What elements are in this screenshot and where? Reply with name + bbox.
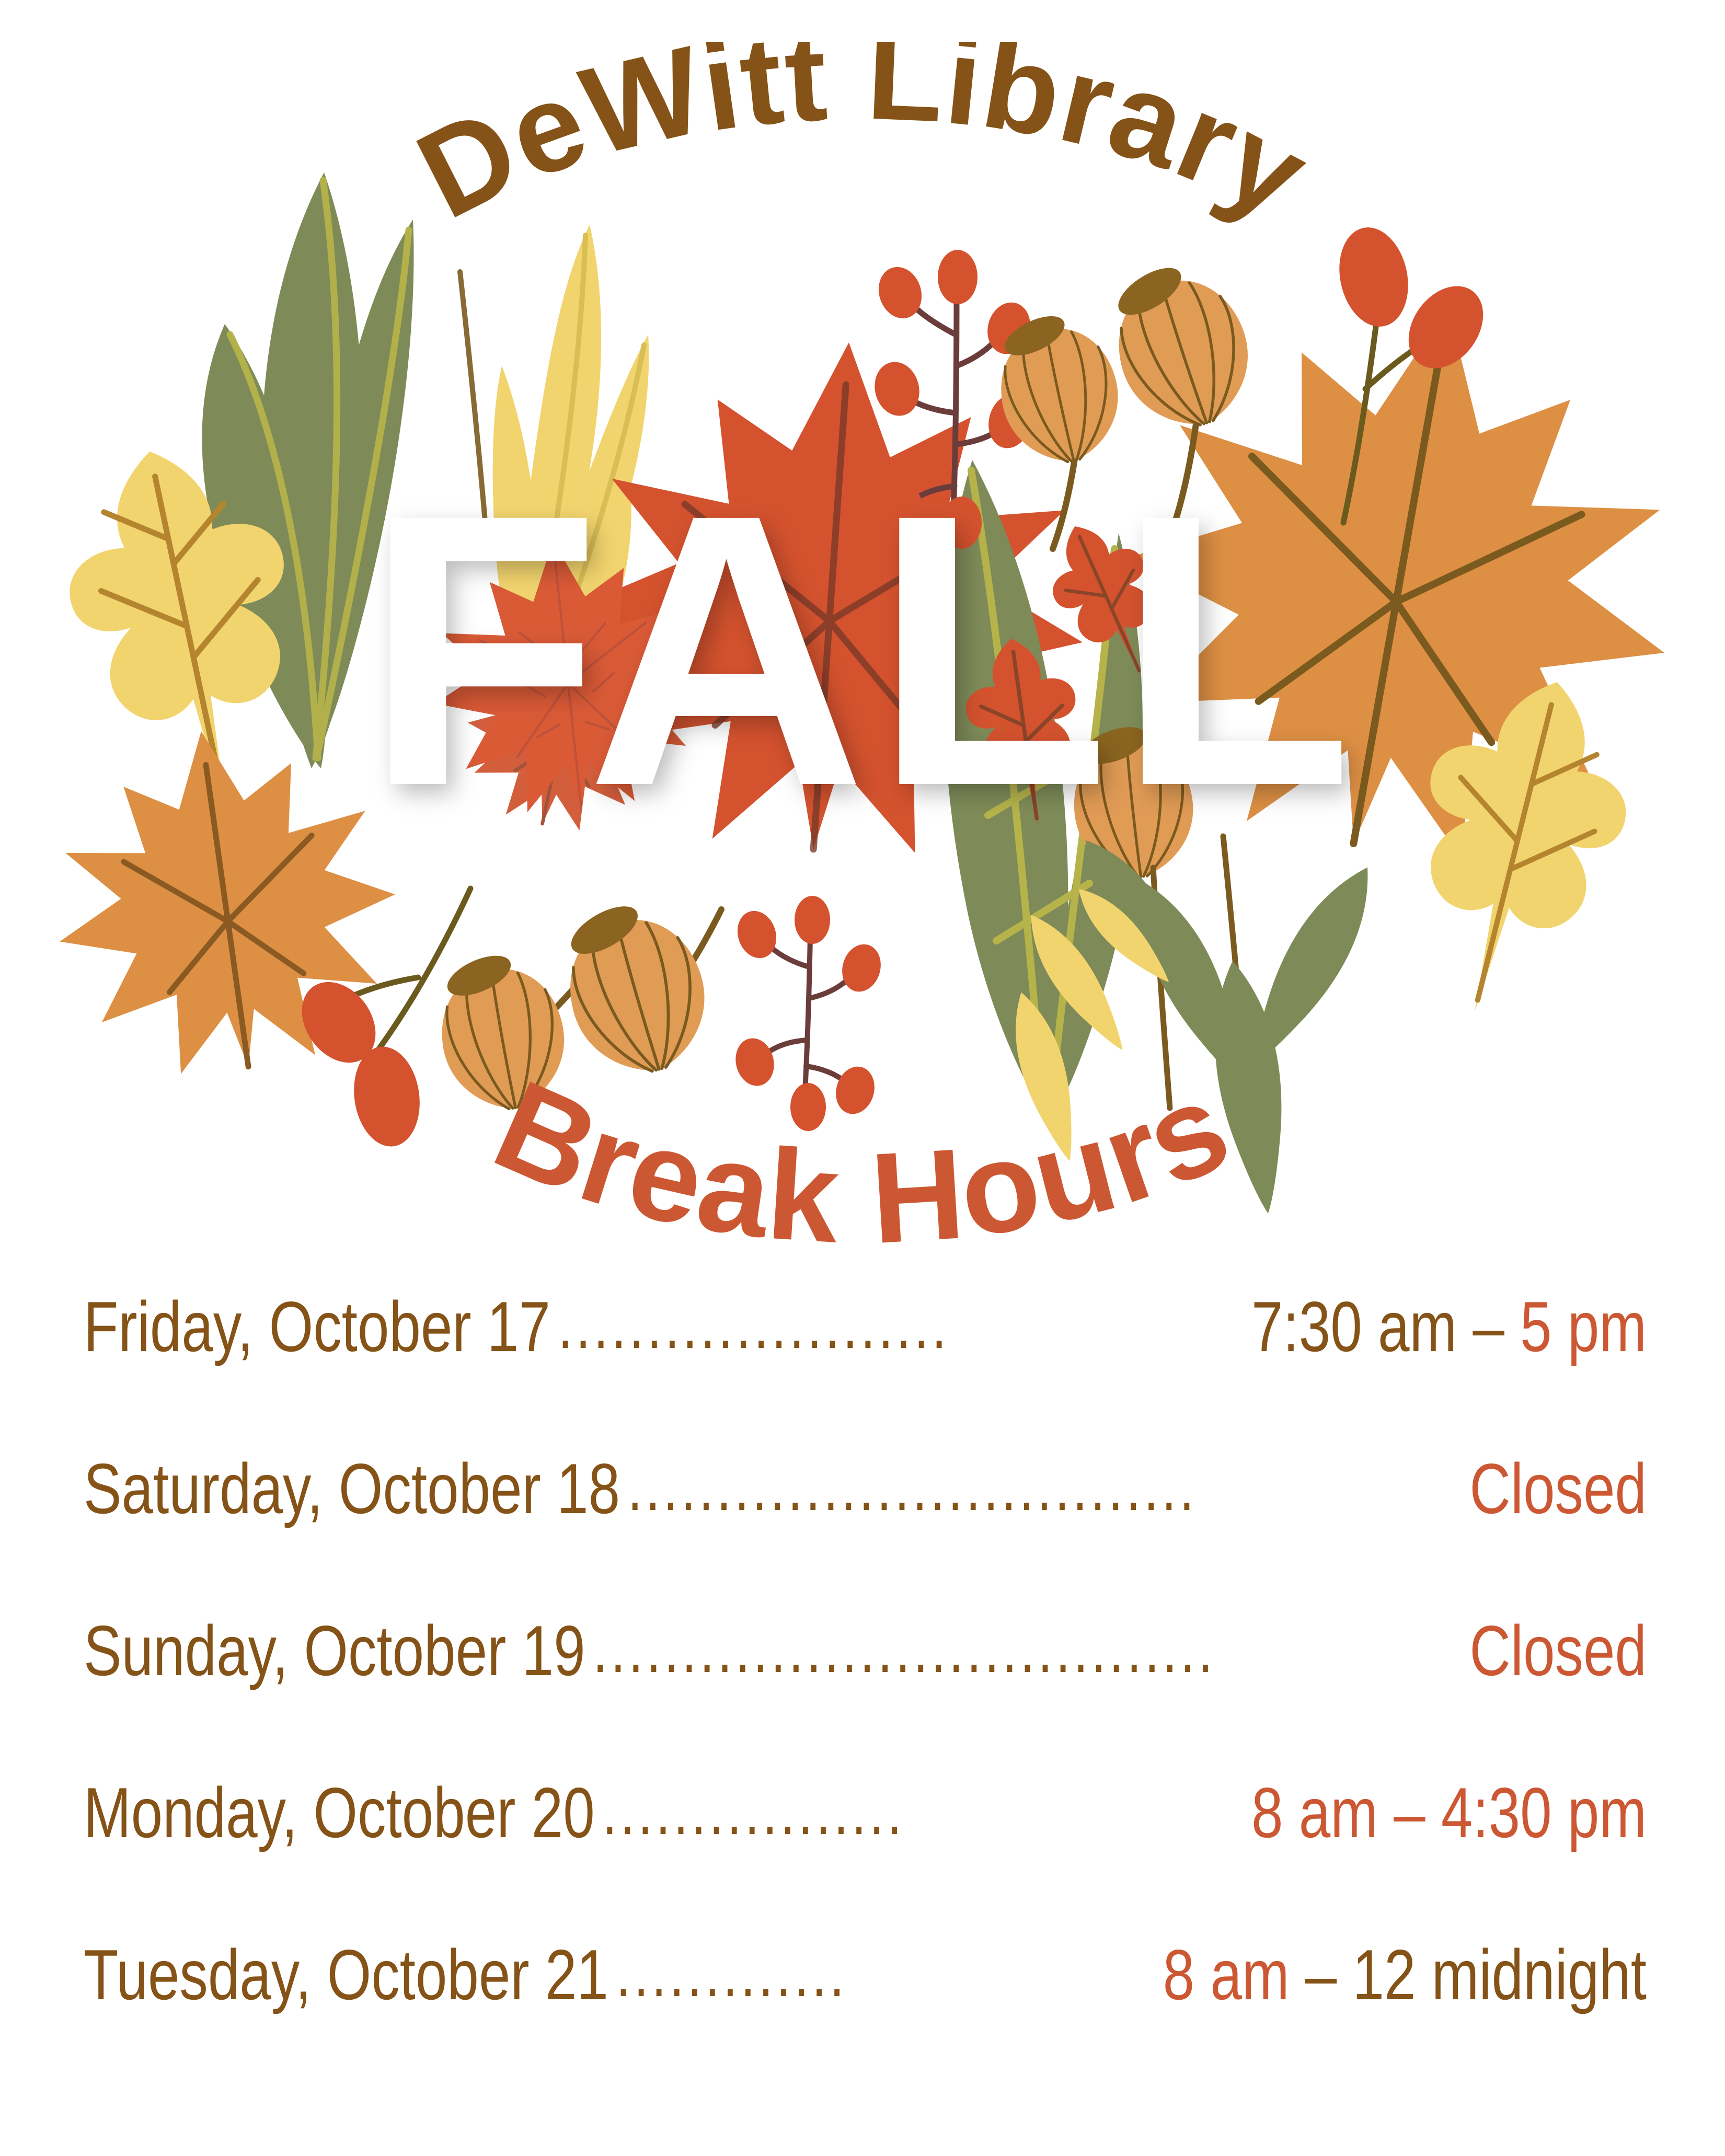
hours-row-saturday: Saturday, October 18 ...................… [84, 1453, 1647, 1615]
hours-row-monday: Monday, October 20 ................. 8 a… [84, 1777, 1647, 1939]
hours-time-value: Closed [1462, 1453, 1647, 1524]
hours-leader-dots: ................. [602, 1778, 1244, 1845]
hours-row-tuesday: Tuesday, October 21 ............. 8 am –… [84, 1939, 1647, 2101]
hours-row-sunday: Sunday, October 19 .....................… [84, 1615, 1647, 1777]
hours-leader-dots: ............. [616, 1940, 1155, 2007]
hours-time-secondary: Closed [1469, 1611, 1647, 1690]
hours-leader-dots: ...................... [558, 1292, 1244, 1359]
hours-time-secondary: 5 pm [1520, 1287, 1647, 1366]
hours-time-value: Closed [1462, 1615, 1647, 1686]
hours-time-value: 8 am – 4:30 pm [1244, 1777, 1647, 1848]
hours-day-label: Sunday, October 19 [84, 1615, 593, 1686]
hours-day-label: Monday, October 20 [84, 1777, 602, 1848]
hours-list: Friday, October 17 .....................… [0, 1291, 1725, 2101]
hours-time-primary: 7:30 am – [1251, 1287, 1520, 1366]
hours-time-secondary: Closed [1469, 1449, 1647, 1528]
hours-time-primary: 8 am [1163, 1935, 1290, 2014]
hours-row-friday: Friday, October 17 .....................… [84, 1291, 1647, 1453]
hours-leader-dots: ................................ [628, 1454, 1462, 1521]
hours-leader-dots: ................................... [593, 1616, 1462, 1683]
hours-time-value: 7:30 am – 5 pm [1244, 1291, 1647, 1362]
hours-day-label: Tuesday, October 21 [84, 1939, 616, 2010]
hours-time-secondary: 8 am – 4:30 pm [1251, 1773, 1647, 1852]
hours-day-label: Friday, October 17 [84, 1291, 558, 1362]
hours-day-label: Saturday, October 18 [84, 1453, 628, 1524]
hours-time-secondary: – 12 midnight [1290, 1935, 1647, 2014]
autumn-foliage-illustration [0, 0, 1725, 1281]
hours-time-value: 8 am – 12 midnight [1155, 1939, 1647, 2010]
